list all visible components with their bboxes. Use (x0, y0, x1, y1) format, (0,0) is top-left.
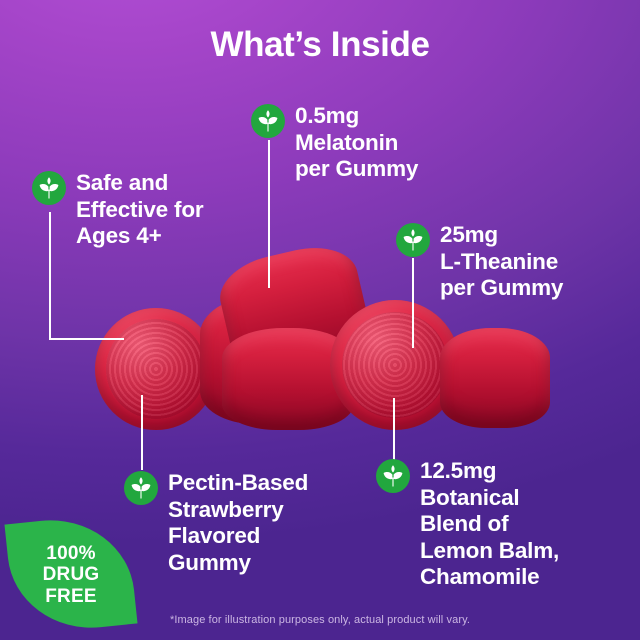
callout-label: Safe and Effective for Ages 4+ (76, 170, 203, 250)
connector-line-botanical (393, 398, 395, 460)
callout-label: 12.5mg Botanical Blend of Lemon Balm, Ch… (420, 458, 559, 591)
callout-label: 25mg L-Theanine per Gummy (440, 222, 563, 302)
leaf-icon (396, 223, 430, 257)
callout-pectin-gummy[interactable]: Pectin-Based Strawberry Flavored Gummy (124, 470, 364, 576)
badge-line-1: 100% (46, 543, 95, 564)
infographic-canvas: What’s Inside Safe and Effective for Age… (0, 0, 640, 640)
callout-botanical-blend[interactable]: 12.5mg Botanical Blend of Lemon Balm, Ch… (376, 458, 626, 591)
connector-line-safe-horizontal (49, 338, 124, 340)
leaf-icon (376, 459, 410, 493)
footnote-disclaimer: *Image for illustration purposes only, a… (0, 614, 640, 626)
leaf-icon (251, 104, 285, 138)
badge-line-3: FREE (45, 586, 96, 607)
connector-line-pectin (141, 395, 143, 470)
leaf-icon (32, 171, 66, 205)
callout-label: Pectin-Based Strawberry Flavored Gummy (168, 470, 308, 576)
callout-melatonin[interactable]: 0.5mg Melatonin per Gummy (251, 103, 481, 183)
callout-label: 0.5mg Melatonin per Gummy (295, 103, 418, 183)
gummy-round-left (95, 308, 217, 430)
callout-safe-effective[interactable]: Safe and Effective for Ages 4+ (32, 170, 247, 250)
leaf-icon (124, 471, 158, 505)
callout-l-theanine[interactable]: 25mg L-Theanine per Gummy (396, 222, 636, 302)
badge-line-2: DRUG (43, 564, 100, 585)
gummy-barrel-right (440, 328, 550, 428)
page-title: What’s Inside (0, 26, 640, 65)
